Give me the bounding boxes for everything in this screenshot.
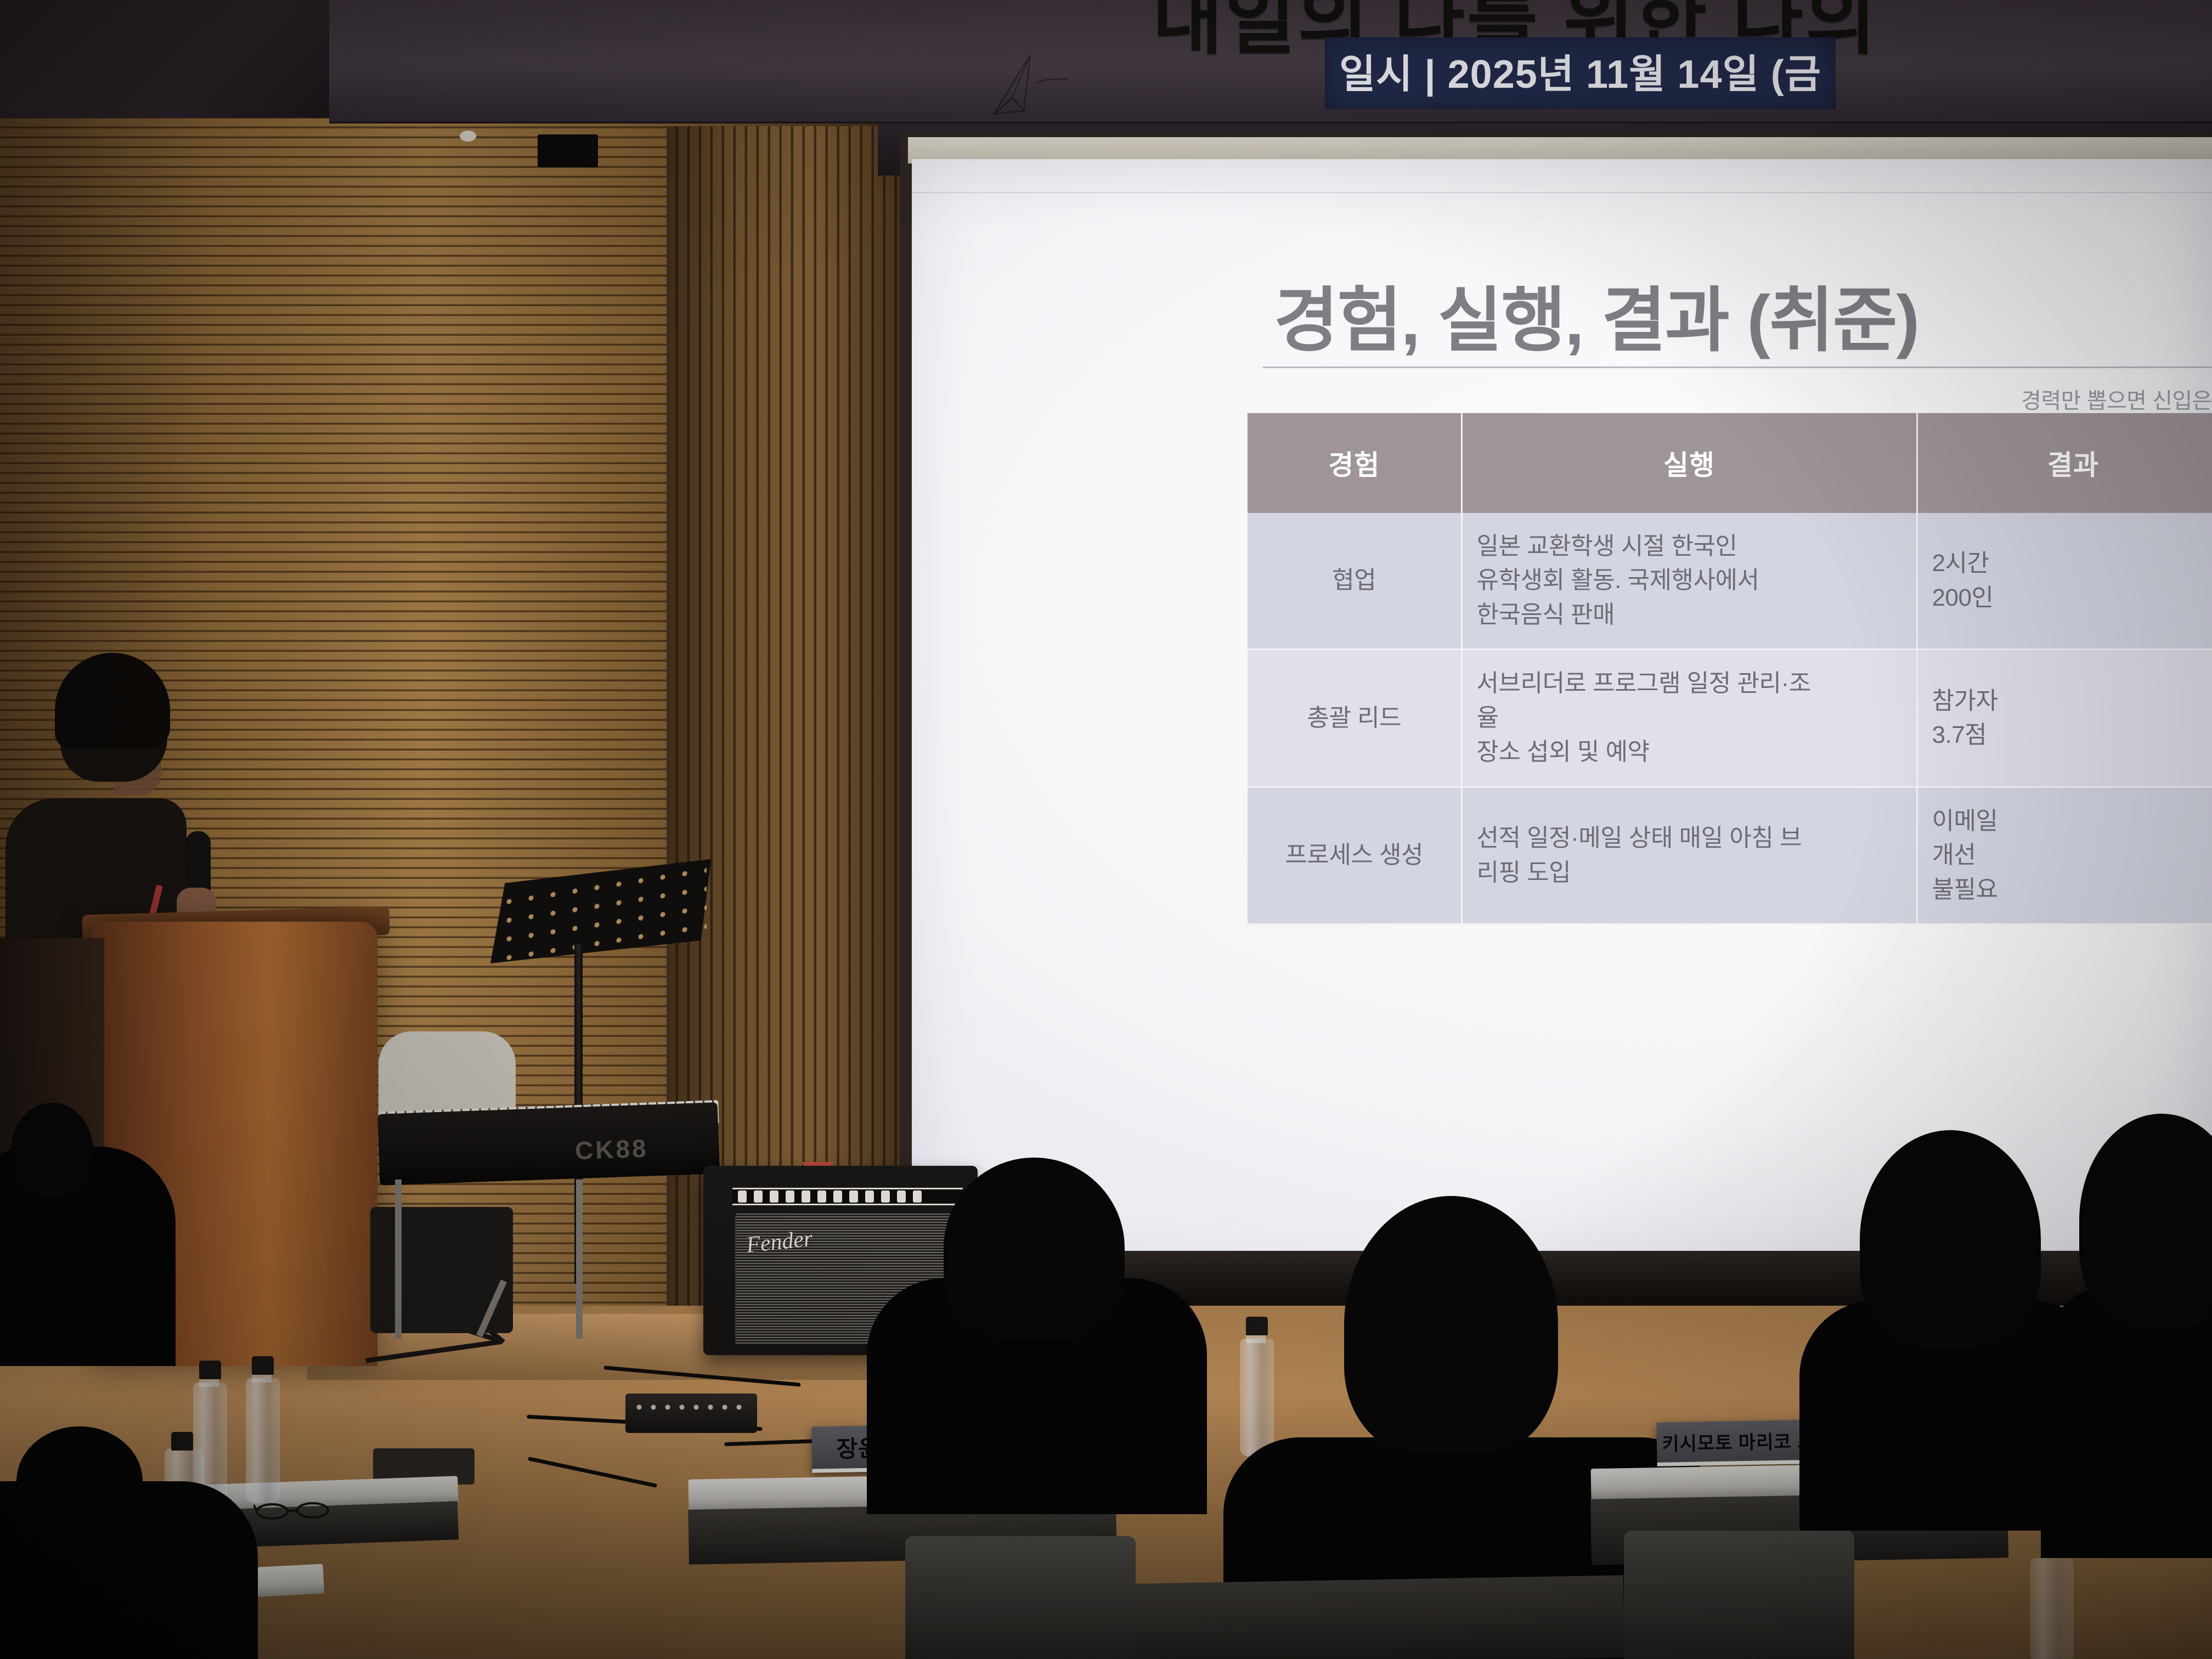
amp-knob[interactable] [913, 1190, 922, 1203]
audience-chair [905, 1536, 1136, 1659]
presentation-slide: 경험, 실행, 결과 (취준) 경력만 뽑으면 신입은 경험 실행 결과 협업 … [912, 159, 2212, 1281]
bottle-cap [199, 1361, 221, 1379]
cell-result: 이메일 개선 불필요 [1917, 787, 2212, 924]
cell-action: 일본 교환학생 시절 한국인 유학생회 활동. 국제행사에서 한국음식 판매 [1462, 513, 1917, 650]
front-row-desk [1075, 1575, 1624, 1659]
amp-knob[interactable] [865, 1190, 874, 1203]
amp-knob[interactable] [881, 1190, 890, 1203]
table-row: 총괄 리드 서브리더로 프로그램 일정 관리·조 율 장소 섭외 및 예약 참가… [1248, 650, 2212, 787]
cell-result: 참가자 3.7점 [1917, 650, 2212, 787]
audience-chair [1624, 1531, 1854, 1659]
audience-member-head [16, 1426, 143, 1536]
table-row: 협업 일본 교환학생 시절 한국인 유학생회 활동. 국제행사에서 한국음식 판… [1248, 513, 2212, 650]
keyboard-stand-leg [395, 1180, 402, 1339]
experience-table: 경험 실행 결과 협업 일본 교환학생 시절 한국인 유학생회 활동. 국제행사… [1248, 413, 2212, 925]
table-header-result: 결과 [1917, 413, 2212, 513]
ceiling-fixture [460, 131, 476, 142]
amp-control-panel [732, 1188, 963, 1205]
eyeglasses-icon [253, 1500, 336, 1520]
table-header-action: 실행 [1462, 413, 1917, 513]
amp-knob[interactable] [802, 1190, 810, 1203]
ceiling-soffit [0, 0, 351, 118]
bottle-cap [171, 1432, 193, 1451]
keyboard-model-label: CK88 [574, 1133, 648, 1166]
projection-screen: 경험, 실행, 결과 (취준) 경력만 뽑으면 신입은 경험 실행 결과 협업 … [912, 159, 2212, 1281]
table-header-row: 경험 실행 결과 [1248, 413, 2212, 513]
amp-knob[interactable] [897, 1190, 906, 1203]
slide-title: 경험, 실행, 결과 (취준) [1274, 263, 1918, 365]
cell-experience: 총괄 리드 [1248, 650, 1462, 787]
cell-action: 선적 일정·메일 상태 매일 아침 브 리핑 도입 [1462, 787, 1917, 924]
cell-experience: 프로세스 생성 [1248, 787, 1462, 924]
audience-member-head [1860, 1130, 2041, 1350]
mixer-knob-row[interactable] [632, 1400, 751, 1414]
amp-knob[interactable] [817, 1190, 826, 1203]
cell-experience: 협업 [1248, 513, 1462, 650]
amp-knob[interactable] [833, 1190, 842, 1203]
slide-title-underline [1263, 366, 2212, 368]
slide-subtitle: 경력만 뽑으면 신입은 [2021, 383, 2212, 415]
microphone-icon [185, 831, 211, 896]
table-row: 프로세스 생성 선적 일정·메일 상태 매일 아침 브 리핑 도입 이메일 개선… [1248, 787, 2212, 924]
bottle-cap [252, 1356, 274, 1375]
digital-keyboard [377, 1102, 720, 1186]
audience-member-head [1344, 1196, 1558, 1454]
lecture-hall-scene: 내일의 나를 위한 나의 일시 | 2025년 11월 14일 (금 경험, 실… [0, 0, 2212, 1659]
cell-action: 서브리더로 프로그램 일정 관리·조 율 장소 섭외 및 예약 [1462, 650, 1917, 787]
table-header-experience: 경험 [1248, 413, 1462, 513]
event-banner: 내일의 나를 위한 나의 일시 | 2025년 11월 14일 (금 [329, 0, 2212, 123]
water-bottle[interactable] [1240, 1339, 1274, 1457]
audience-member-head [944, 1158, 1125, 1339]
bottle-cap [1246, 1317, 1268, 1335]
water-bottle[interactable] [246, 1378, 280, 1503]
amp-knob[interactable] [849, 1190, 858, 1203]
cell-result: 2시간 200인 [1917, 513, 2212, 650]
water-bottle[interactable] [2030, 1558, 2074, 1659]
audience-member-head [11, 1103, 93, 1199]
keyboard-stand-leg [576, 1180, 583, 1339]
amp-knob[interactable] [754, 1190, 763, 1203]
amp-knob[interactable] [786, 1190, 794, 1203]
wall-speaker [538, 134, 598, 167]
amp-knob[interactable] [738, 1190, 747, 1203]
banner-date-label: 일시 | 2025년 11월 14일 (금 [1325, 37, 1836, 109]
amp-knob[interactable] [770, 1190, 778, 1203]
paper-plane-icon [979, 47, 1078, 123]
